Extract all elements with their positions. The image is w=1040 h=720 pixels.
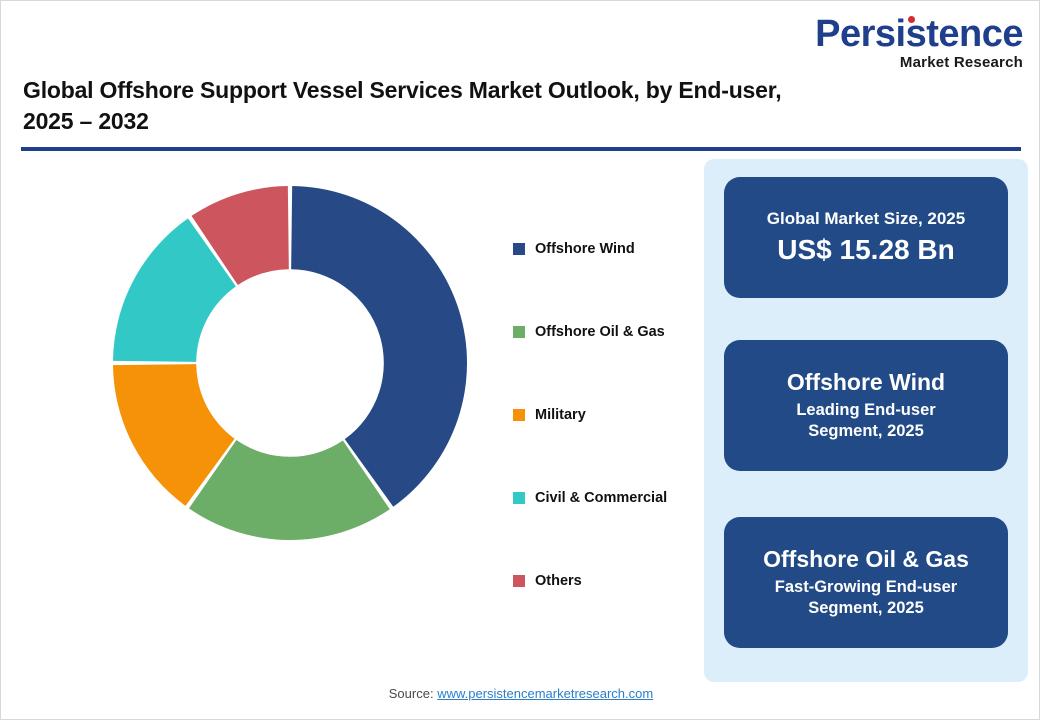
legend-swatch-icon xyxy=(513,575,525,587)
leading-segment-card: Offshore Wind Leading End-user Segment, … xyxy=(724,340,1008,471)
legend-item-military[interactable]: Military xyxy=(513,373,703,456)
company-logo: Persistence Market Research xyxy=(815,15,1023,70)
legend-label: Offshore Wind xyxy=(535,241,635,257)
legend-label: Military xyxy=(535,407,586,423)
source-url-link[interactable]: www.persistencemarketresearch.com xyxy=(437,686,653,701)
source-label: Source: xyxy=(389,686,437,701)
market-size-heading: Global Market Size, 2025 xyxy=(767,208,965,229)
market-size-value: US$ 15.28 Bn xyxy=(777,232,954,267)
highlights-panel: Global Market Size, 2025 US$ 15.28 Bn Of… xyxy=(704,159,1028,682)
fastest-segment-title: Offshore Oil & Gas xyxy=(763,546,969,574)
page-title: Global Offshore Support Vessel Services … xyxy=(23,75,823,136)
leading-segment-title: Offshore Wind xyxy=(787,369,945,397)
legend-item-offshore-oil-gas[interactable]: Offshore Oil & Gas xyxy=(513,290,703,373)
leading-segment-line1: Leading End-user xyxy=(796,400,935,421)
leading-segment-line2: Segment, 2025 xyxy=(808,421,924,442)
legend-swatch-icon xyxy=(513,409,525,421)
fastest-segment-card: Offshore Oil & Gas Fast-Growing End-user… xyxy=(724,517,1008,648)
legend-label: Others xyxy=(535,573,582,589)
logo-brand-text: Persistence xyxy=(815,15,1023,53)
infographic-page: Persistence Market Research Global Offsh… xyxy=(0,0,1040,720)
donut-chart xyxy=(105,178,475,548)
market-size-card: Global Market Size, 2025 US$ 15.28 Bn xyxy=(724,177,1008,298)
source-footer: Source: www.persistencemarketresearch.co… xyxy=(1,686,1040,701)
donut-slice-group xyxy=(113,186,467,540)
donut-chart-svg xyxy=(105,178,475,548)
fastest-segment-line1: Fast-Growing End-user xyxy=(775,577,957,598)
legend-swatch-icon xyxy=(513,326,525,338)
title-divider xyxy=(21,147,1021,151)
legend-item-others[interactable]: Others xyxy=(513,539,703,622)
legend-label: Civil & Commercial xyxy=(535,490,667,506)
chart-legend: Offshore Wind Offshore Oil & Gas Militar… xyxy=(513,207,703,622)
fastest-segment-line2: Segment, 2025 xyxy=(808,598,924,619)
legend-swatch-icon xyxy=(513,492,525,504)
legend-item-civil-commercial[interactable]: Civil & Commercial xyxy=(513,456,703,539)
legend-label: Offshore Oil & Gas xyxy=(535,324,665,340)
legend-item-offshore-wind[interactable]: Offshore Wind xyxy=(513,207,703,290)
legend-swatch-icon xyxy=(513,243,525,255)
logo-tagline-text: Market Research xyxy=(815,55,1023,70)
